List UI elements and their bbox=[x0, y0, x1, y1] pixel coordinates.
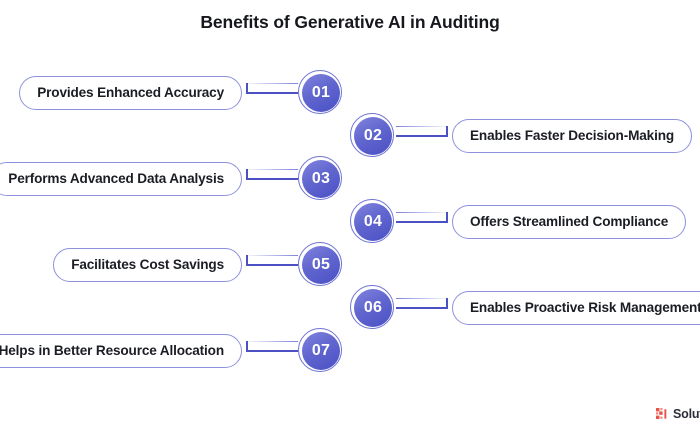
connector-stroke bbox=[246, 92, 298, 94]
connector-accent bbox=[246, 341, 298, 342]
connector-line bbox=[246, 328, 298, 374]
benefit-row: 07Helps in Better Resource Allocation bbox=[0, 328, 700, 374]
benefit-label-text: Provides Enhanced Accuracy bbox=[37, 86, 224, 100]
benefit-row: 05Facilitates Cost Savings bbox=[0, 242, 700, 288]
benefit-row: 02Enables Faster Decision-Making bbox=[0, 113, 700, 159]
badge-disc: 02 bbox=[354, 117, 392, 155]
connector-stroke bbox=[246, 350, 298, 352]
badge-disc: 04 bbox=[354, 203, 392, 241]
benefit-row: 03Performs Advanced Data Analysis bbox=[0, 156, 700, 202]
benefit-label-text: Facilitates Cost Savings bbox=[71, 258, 224, 272]
badge-disc: 03 bbox=[302, 160, 340, 198]
connector-stroke bbox=[396, 135, 448, 137]
connector-line bbox=[396, 199, 448, 245]
benefit-label-text: Enables Proactive Risk Management bbox=[470, 301, 700, 315]
benefit-label-pill[interactable]: Helps in Better Resource Allocation bbox=[0, 334, 242, 368]
step-number-badge[interactable]: 04 bbox=[350, 199, 396, 245]
benefit-label-text: Performs Advanced Data Analysis bbox=[8, 172, 224, 186]
connector-tick bbox=[246, 169, 248, 179]
connector-stroke bbox=[246, 264, 298, 266]
step-number-badge[interactable]: 03 bbox=[298, 156, 344, 202]
badge-number: 02 bbox=[364, 128, 382, 144]
benefit-label-text: Helps in Better Resource Allocation bbox=[0, 344, 224, 358]
connector-tick bbox=[446, 212, 448, 222]
connector-accent bbox=[396, 298, 448, 299]
benefit-row: 01Provides Enhanced Accuracy bbox=[0, 70, 700, 116]
connector-accent bbox=[246, 255, 298, 256]
badge-disc: 05 bbox=[302, 246, 340, 284]
connector-stroke bbox=[396, 307, 448, 309]
benefit-label-text: Enables Faster Decision-Making bbox=[470, 129, 674, 143]
step-number-badge[interactable]: 02 bbox=[350, 113, 396, 159]
benefit-label-pill[interactable]: Enables Proactive Risk Management bbox=[452, 291, 700, 325]
connector-accent bbox=[396, 212, 448, 213]
badge-number: 06 bbox=[364, 300, 382, 316]
connector-tick bbox=[446, 298, 448, 308]
badge-disc: 06 bbox=[354, 289, 392, 327]
benefit-label-pill[interactable]: Provides Enhanced Accuracy bbox=[19, 76, 242, 110]
connector-line bbox=[246, 70, 298, 116]
connector-tick bbox=[246, 255, 248, 265]
benefit-row: 06Enables Proactive Risk Management bbox=[0, 285, 700, 331]
infographic-canvas: Benefits of Generative AI in Auditing 01… bbox=[0, 0, 700, 441]
benefit-row: 04Offers Streamlined Compliance bbox=[0, 199, 700, 245]
connector-line bbox=[396, 113, 448, 159]
badge-disc: 01 bbox=[302, 74, 340, 112]
badge-number: 05 bbox=[312, 257, 330, 273]
connector-tick bbox=[246, 341, 248, 351]
connector-accent bbox=[246, 169, 298, 170]
badge-number: 03 bbox=[312, 171, 330, 187]
connector-tick bbox=[246, 83, 248, 93]
step-number-badge[interactable]: 05 bbox=[298, 242, 344, 288]
connector-stroke bbox=[246, 178, 298, 180]
brand-logo: Solutions bbox=[656, 407, 700, 421]
step-number-badge[interactable]: 01 bbox=[298, 70, 344, 116]
connector-line bbox=[246, 156, 298, 202]
connector-accent bbox=[246, 83, 298, 84]
connector-tick bbox=[446, 126, 448, 136]
benefit-label-pill[interactable]: Facilitates Cost Savings bbox=[53, 248, 242, 282]
badge-disc: 07 bbox=[302, 332, 340, 370]
step-number-badge[interactable]: 07 bbox=[298, 328, 344, 374]
step-number-badge[interactable]: 06 bbox=[350, 285, 396, 331]
benefit-label-text: Offers Streamlined Compliance bbox=[470, 215, 668, 229]
connector-line bbox=[246, 242, 298, 288]
connector-stroke bbox=[396, 221, 448, 223]
connector-line bbox=[396, 285, 448, 331]
benefit-label-pill[interactable]: Performs Advanced Data Analysis bbox=[0, 162, 242, 196]
grid-squares-logo-icon bbox=[656, 408, 669, 421]
connector-accent bbox=[396, 126, 448, 127]
badge-number: 04 bbox=[364, 214, 382, 230]
benefit-label-pill[interactable]: Enables Faster Decision-Making bbox=[452, 119, 692, 153]
page-title: Benefits of Generative AI in Auditing bbox=[0, 12, 700, 33]
badge-number: 07 bbox=[312, 343, 330, 359]
benefit-label-pill[interactable]: Offers Streamlined Compliance bbox=[452, 205, 686, 239]
badge-number: 01 bbox=[312, 85, 330, 101]
brand-logo-text: Solutions bbox=[673, 407, 700, 421]
